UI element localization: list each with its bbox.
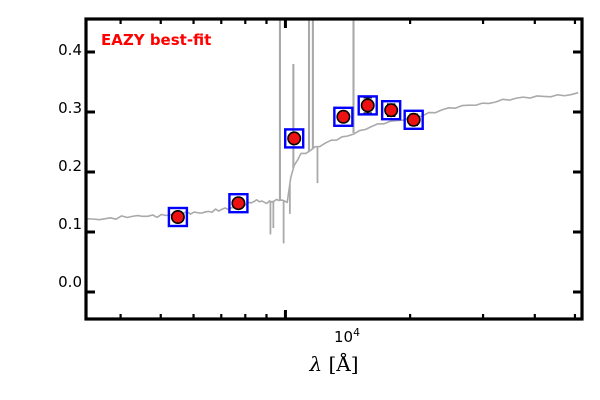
model-spectrum-line [86, 93, 578, 220]
photometry-points-group [169, 96, 423, 226]
plot-svg [0, 0, 600, 400]
axis-frame [86, 19, 582, 319]
figure-canvas: fν [arbitrarily scaled] λ [Å] 0.0 0.1 0.… [0, 0, 600, 400]
flux-point-marker [337, 111, 349, 123]
model-spectrum-group [86, 19, 578, 243]
photometry-point [405, 111, 423, 129]
flux-point-marker [407, 114, 419, 126]
photometry-point [334, 108, 352, 126]
flux-point-marker [232, 197, 244, 209]
flux-point-marker [362, 99, 374, 111]
photometry-point [382, 101, 400, 119]
flux-point-marker [288, 132, 300, 144]
flux-point-marker [172, 211, 184, 223]
photometry-point [285, 129, 303, 147]
axis-frame-group [86, 19, 582, 319]
flux-point-marker [385, 104, 397, 116]
photometry-point [359, 96, 377, 114]
photometry-point [169, 208, 187, 226]
photometry-point [229, 194, 247, 212]
